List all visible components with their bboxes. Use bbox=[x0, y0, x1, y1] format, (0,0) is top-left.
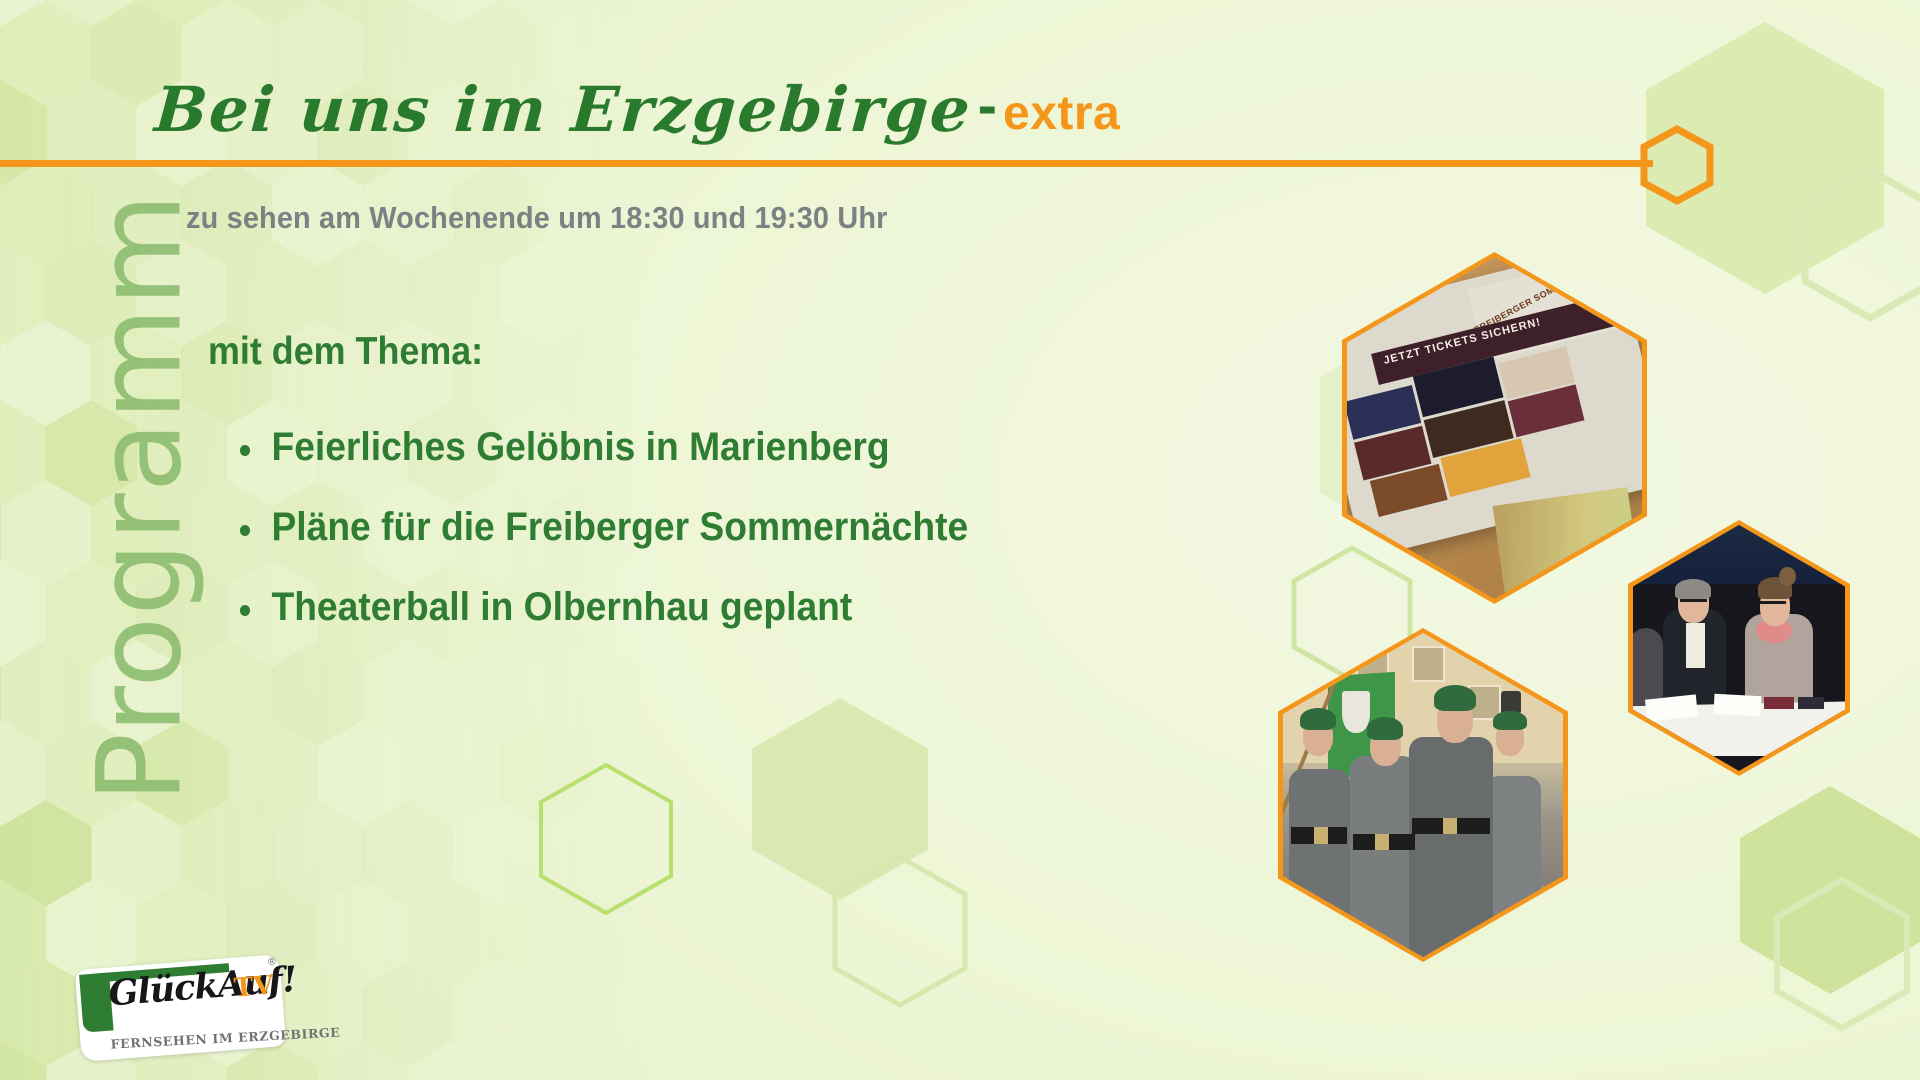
page-subtitle: zu sehen am Wochenende um 18:30 und 19:3… bbox=[186, 200, 888, 236]
logo-tv-text: TV bbox=[233, 971, 275, 1004]
title-dash: - bbox=[972, 77, 1003, 135]
logo-registered-mark: ® bbox=[268, 956, 276, 968]
logo-glueckauf-tv[interactable]: GlückAuf! TV ® FERNSEHEN IM ERZGEBIRGE bbox=[75, 954, 287, 1062]
title-script-part: Bei uns im Erzgebirge bbox=[153, 79, 974, 141]
header-rule-hexagon-icon bbox=[1640, 125, 1714, 205]
header-rule bbox=[0, 160, 1653, 167]
page-title: Bei uns im Erzgebirge-extra bbox=[155, 77, 1120, 141]
list-item: Pläne für die Freiberger Sommernächte bbox=[238, 505, 968, 550]
topic-intro-label: mit dem Thema: bbox=[208, 330, 483, 374]
title-extra-part: extra bbox=[1003, 90, 1120, 138]
topic-list: Feierliches Gelöbnis in Marienberg Pläne… bbox=[238, 425, 1023, 665]
list-item: Feierliches Gelöbnis in Marienberg bbox=[238, 425, 968, 470]
slide-canvas: Bei uns im Erzgebirge-extra zu sehen am … bbox=[0, 0, 1920, 1080]
list-item: Theaterball in Olbernhau geplant bbox=[238, 585, 968, 630]
